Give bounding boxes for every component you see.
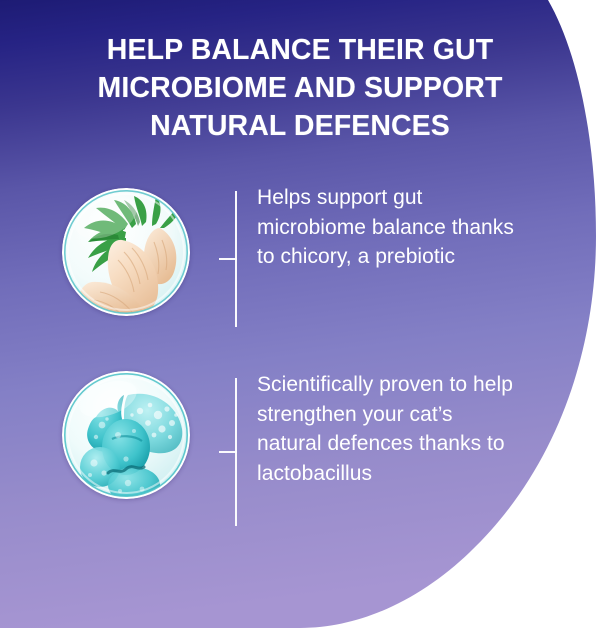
chicory-root-photo-badge [62,188,190,316]
lactobacillus-cells-photo-badge [62,371,190,499]
benefit-divider-2 [219,378,237,526]
benefit-item: Scientifically proven to help strengthen… [0,366,600,506]
page-title: HELP BALANCE THEIR GUT MICROBIOME AND SU… [46,31,554,145]
divider-tick-mark [219,451,237,453]
benefit-item: Helps support gut microbiome balance tha… [0,183,600,323]
benefit-description: Helps support gut microbiome balance tha… [257,183,519,272]
benefit-description: Scientifically proven to help strengthen… [257,370,519,488]
benefit-divider-1 [219,191,237,327]
benefits-infographic-panel: HELP BALANCE THEIR GUT MICROBIOME AND SU… [0,0,600,628]
divider-tick-mark [219,258,237,260]
